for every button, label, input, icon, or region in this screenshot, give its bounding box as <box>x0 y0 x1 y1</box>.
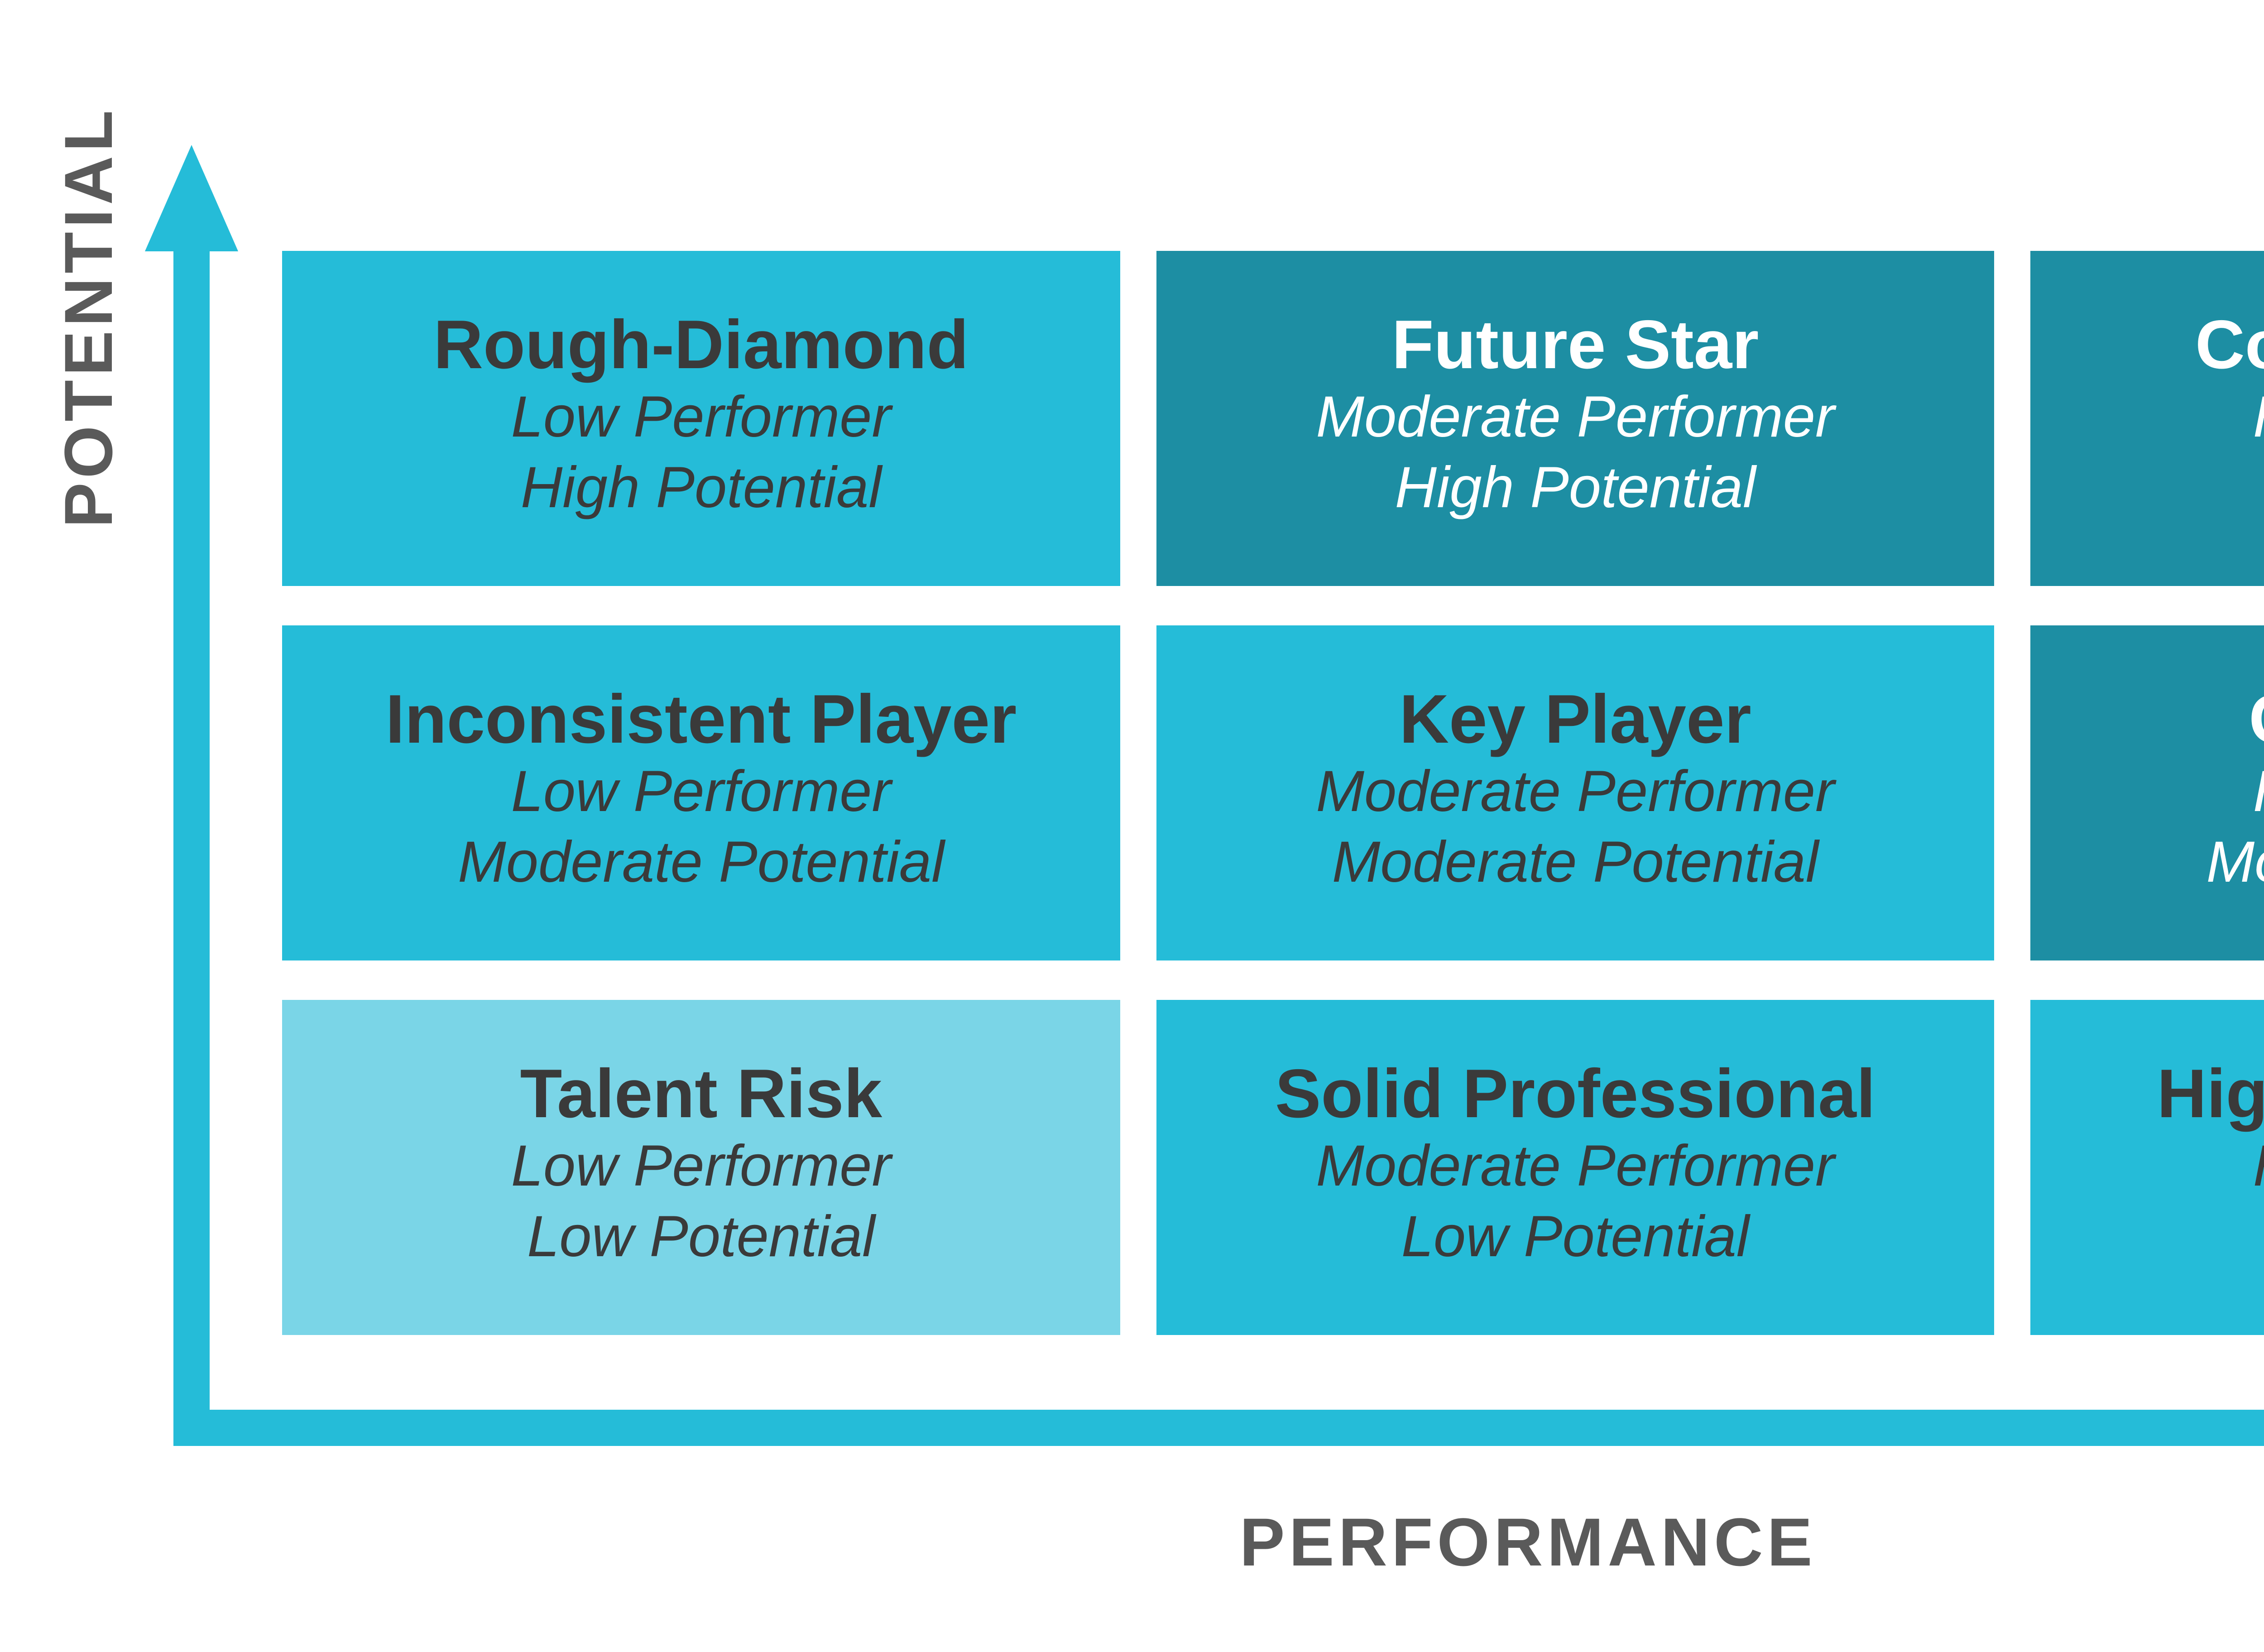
y-axis-label: POTENTIAL <box>43 45 134 589</box>
matrix-cell-title: Future Star <box>1392 307 1759 382</box>
matrix-cell-potential: Moderate Potential <box>1332 827 1818 898</box>
matrix-cell-potential: Moderate Potential <box>458 827 944 898</box>
nine-box-talent-matrix: POTENTIAL PERFORMANCE Rough-DiamondLow P… <box>0 0 2264 1652</box>
matrix-cell-title: High Professional <box>2157 1057 2264 1131</box>
matrix-cell-title: Key Player <box>1399 682 1751 756</box>
matrix-cell-potential: High Potential <box>1395 452 1756 523</box>
matrix-cell-title: Rough-Diamond <box>433 307 969 382</box>
matrix-cell-performance: High Performer <box>2253 382 2264 452</box>
matrix-cell-title: Inconsistent Player <box>385 682 1017 756</box>
arrow-up-icon <box>145 145 238 251</box>
matrix-cell-potential: Low Potential <box>1401 1201 1750 1272</box>
matrix-cell-title: Solid Professional <box>1275 1057 1875 1131</box>
matrix-cell-title: Consistent Star <box>2195 307 2264 382</box>
matrix-cell-performance: High Performer <box>2253 756 2264 827</box>
matrix-cell-potential: Moderate Potential <box>2206 827 2264 898</box>
matrix-cell[interactable]: High ProfessionalHigh PerformerLow Poten… <box>2030 1000 2264 1335</box>
matrix-cell[interactable]: Talent RiskLow PerformerLow Potential <box>282 1000 1120 1335</box>
matrix-cell-potential: High Potential <box>521 452 882 523</box>
x-axis-label: PERFORMANCE <box>0 1508 2264 1576</box>
matrix-cell[interactable]: Future StarModerate PerformerHigh Potent… <box>1156 251 1995 586</box>
matrix-cell-title: Current Star <box>2249 682 2264 756</box>
y-axis-line <box>173 235 210 1446</box>
matrix-cell-title: Talent Risk <box>520 1057 883 1131</box>
matrix-cell-performance: Moderate Performer <box>1316 756 1834 827</box>
matrix-cell-performance: Low Performer <box>511 756 891 827</box>
matrix-cell[interactable]: Inconsistent PlayerLow PerformerModerate… <box>282 625 1120 960</box>
matrix-cell-performance: Low Performer <box>511 1131 891 1201</box>
matrix-cell[interactable]: Consistent StarHigh PerformerHigh Potent… <box>2030 251 2264 586</box>
matrix-cell-performance: High Performer <box>2253 1131 2264 1201</box>
matrix-cell[interactable]: Solid ProfessionalModerate PerformerLow … <box>1156 1000 1995 1335</box>
matrix-cell-performance: Moderate Performer <box>1316 1131 1834 1201</box>
matrix-cell[interactable]: Rough-DiamondLow PerformerHigh Potential <box>282 251 1120 586</box>
matrix-cell-potential: Low Potential <box>527 1201 875 1272</box>
matrix-grid: Rough-DiamondLow PerformerHigh Potential… <box>282 251 2264 1335</box>
matrix-cell-performance: Low Performer <box>511 382 891 452</box>
x-axis-line <box>173 1410 2264 1446</box>
matrix-cell[interactable]: Key PlayerModerate PerformerModerate Pot… <box>1156 625 1995 960</box>
matrix-cell-performance: Moderate Performer <box>1316 382 1834 452</box>
matrix-cell[interactable]: Current StarHigh PerformerModerate Poten… <box>2030 625 2264 960</box>
